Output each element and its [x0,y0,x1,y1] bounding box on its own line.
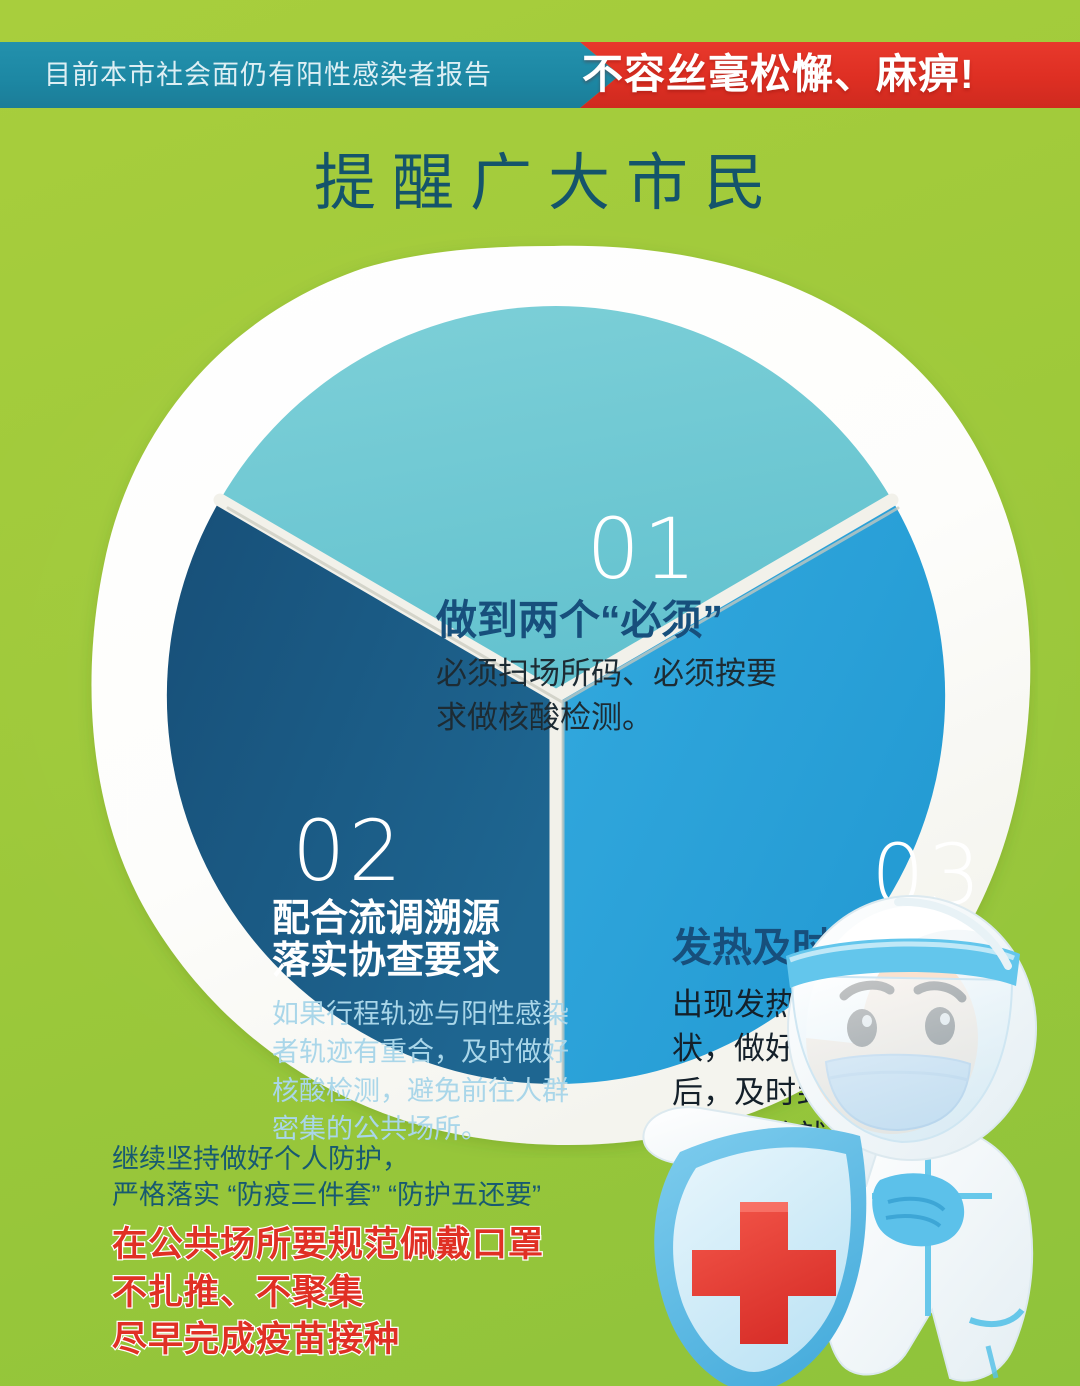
segment-01-number: 01 [408,510,878,590]
segment-02-body-line: 者轨迹有重合，及时做好 [272,1033,604,1071]
medical-worker-mascot-icon [640,880,1080,1386]
segment-01-text: 01 做到两个“必须” 必须扫场所码、必须按要 求做核酸检测。 [408,510,878,740]
segment-02-body-line: 核酸检测，避免前往人群 [272,1072,604,1110]
mascot-head [786,896,1036,1160]
header-left-text: 目前本市社会面仍有阳性感染者报告 [44,42,492,108]
segment-02-heading-line: 落实协查要求 [272,940,604,983]
poster-root: 目前本市社会面仍有阳性感染者报告 不容丝毫松懈、麻痹! 提醒广大市民 [0,0,1080,1386]
header-right-text: 不容丝毫松懈、麻痹! [582,42,975,108]
segment-02-text: 02 配合流调溯源 落实协查要求 如果行程轨迹与阳性感染 者轨迹有重合，及时做好… [254,812,604,1148]
segment-02-number: 02 [292,812,604,892]
page-title: 提醒广大市民 [0,132,1080,222]
header-banner: 目前本市社会面仍有阳性感染者报告 不容丝毫松懈、麻痹! [0,42,1080,108]
segment-01-body-line: 必须扫场所码、必须按要 [436,652,878,696]
segment-01-heading: 做到两个“必须” [436,598,878,644]
segment-01-body-line: 求做核酸检测。 [436,696,878,740]
segment-02-heading: 配合流调溯源 落实协查要求 [272,898,604,983]
segment-02-body-line: 如果行程轨迹与阳性感染 [272,995,604,1033]
segment-02-body: 如果行程轨迹与阳性感染 者轨迹有重合，及时做好 核酸检测，避免前往人群 密集的公… [272,995,604,1148]
segment-01-body: 必须扫场所码、必须按要 求做核酸检测。 [436,652,878,740]
segment-02-heading-line: 配合流调溯源 [272,898,604,941]
